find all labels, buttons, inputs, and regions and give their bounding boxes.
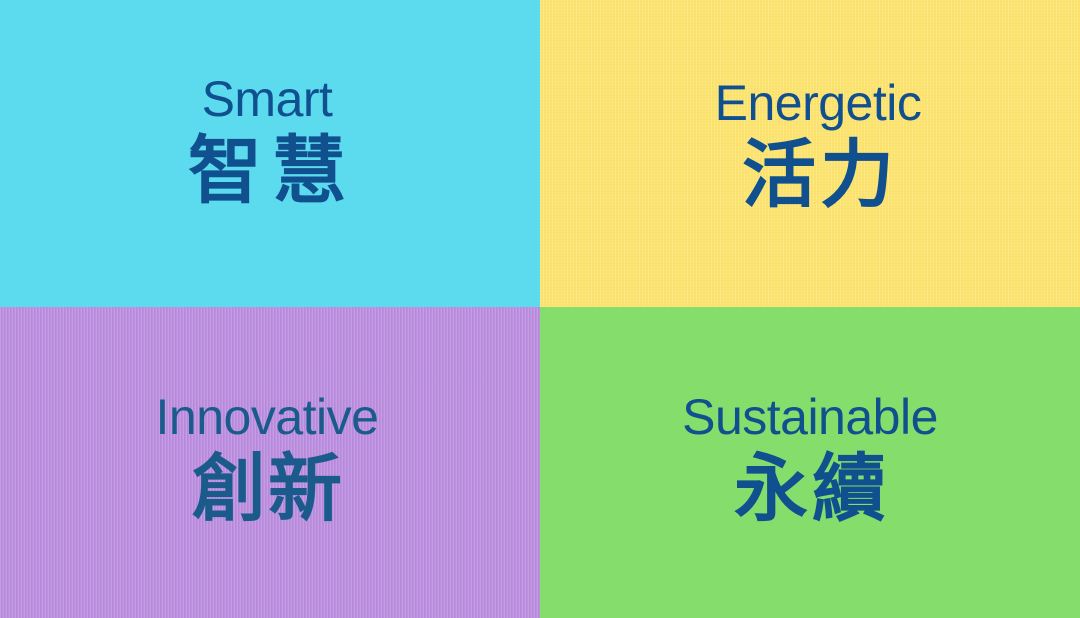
quadrant-energetic[interactable]: Energetic 活力 [540,0,1080,307]
quadrant-innovative[interactable]: Innovative 創新 [0,307,540,618]
quadrant-innovative-label-en: Innovative [156,391,379,444]
quadrant-smart[interactable]: Smart 智慧 [0,0,540,307]
brand-values-grid: Smart 智慧 Energetic 活力 Innovative 創新 Sust… [0,0,1080,618]
quadrant-smart-label-en: Smart [202,73,333,126]
quadrant-sustainable-label-en: Sustainable [682,391,938,444]
quadrant-innovative-label-cjk: 創新 [190,450,344,528]
quadrant-smart-label-cjk: 智慧 [178,132,356,210]
quadrant-sustainable[interactable]: Sustainable 永續 [540,307,1080,618]
quadrant-sustainable-label-cjk: 永續 [730,450,890,528]
quadrant-energetic-content: Energetic 活力 [715,77,922,214]
quadrant-innovative-content: Innovative 創新 [156,391,379,528]
quadrant-energetic-label-cjk: 活力 [738,136,898,214]
quadrant-sustainable-content: Sustainable 永續 [682,391,938,528]
quadrant-smart-content: Smart 智慧 [178,73,356,210]
quadrant-energetic-label-en: Energetic [715,77,922,130]
